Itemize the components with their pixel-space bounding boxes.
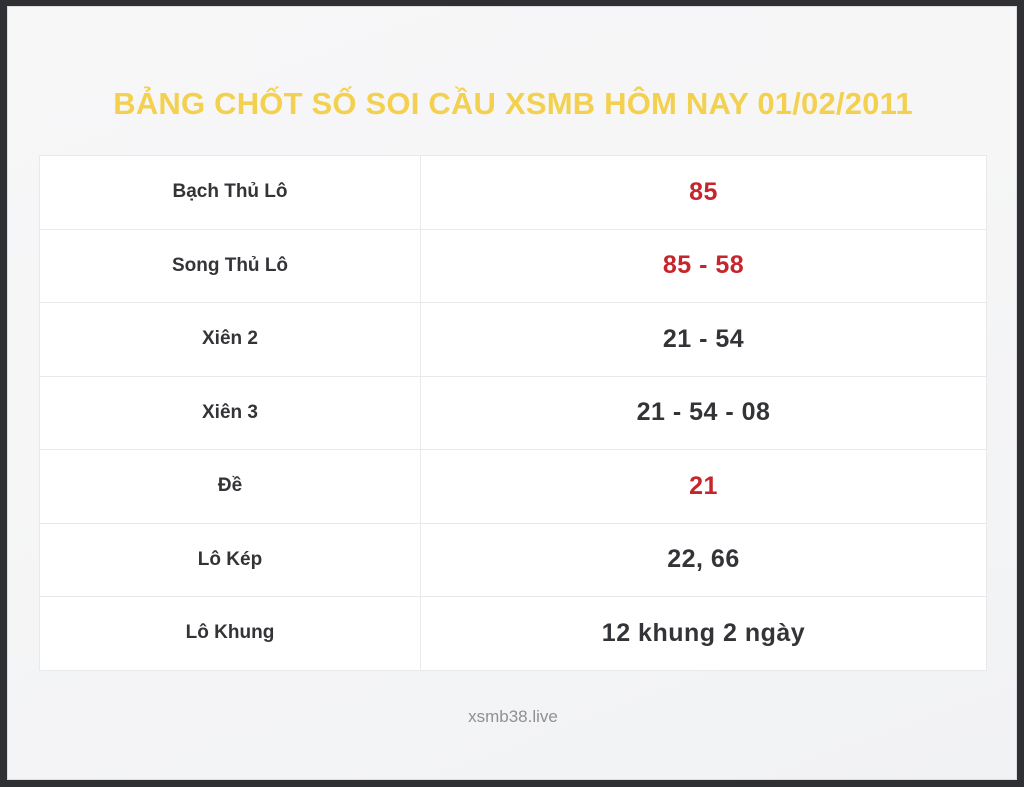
page-frame: BẢNG CHỐT SỐ SOI CẦU XSMB HÔM NAY 01/02/… bbox=[7, 6, 1017, 780]
row-label: Xiên 2 bbox=[40, 303, 421, 377]
row-label: Xiên 3 bbox=[40, 376, 421, 450]
site-watermark: xsmb38.live bbox=[8, 707, 1017, 727]
row-value: 21 - 54 - 08 bbox=[421, 376, 987, 450]
row-value: 85 - 58 bbox=[421, 229, 987, 303]
row-label: Bạch Thủ Lô bbox=[40, 156, 421, 230]
table-row: Lô Kép 22, 66 bbox=[40, 523, 987, 597]
row-label: Song Thủ Lô bbox=[40, 229, 421, 303]
table-row: Song Thủ Lô 85 - 58 bbox=[40, 229, 987, 303]
page-title: BẢNG CHỐT SỐ SOI CẦU XSMB HÔM NAY 01/02/… bbox=[8, 86, 1017, 122]
table-row: Xiên 2 21 - 54 bbox=[40, 303, 987, 377]
prediction-table: Bạch Thủ Lô 85 Song Thủ Lô 85 - 58 Xiên … bbox=[39, 155, 987, 671]
row-value: 21 bbox=[421, 450, 987, 524]
row-value: 21 - 54 bbox=[421, 303, 987, 377]
table-body: Bạch Thủ Lô 85 Song Thủ Lô 85 - 58 Xiên … bbox=[40, 156, 987, 671]
table-row: Bạch Thủ Lô 85 bbox=[40, 156, 987, 230]
row-value: 22, 66 bbox=[421, 523, 987, 597]
table-row: Đề 21 bbox=[40, 450, 987, 524]
row-label: Đề bbox=[40, 450, 421, 524]
table-row: Lô Khung 12 khung 2 ngày bbox=[40, 597, 987, 671]
row-label: Lô Khung bbox=[40, 597, 421, 671]
table-row: Xiên 3 21 - 54 - 08 bbox=[40, 376, 987, 450]
row-label: Lô Kép bbox=[40, 523, 421, 597]
row-value: 12 khung 2 ngày bbox=[421, 597, 987, 671]
row-value: 85 bbox=[421, 156, 987, 230]
